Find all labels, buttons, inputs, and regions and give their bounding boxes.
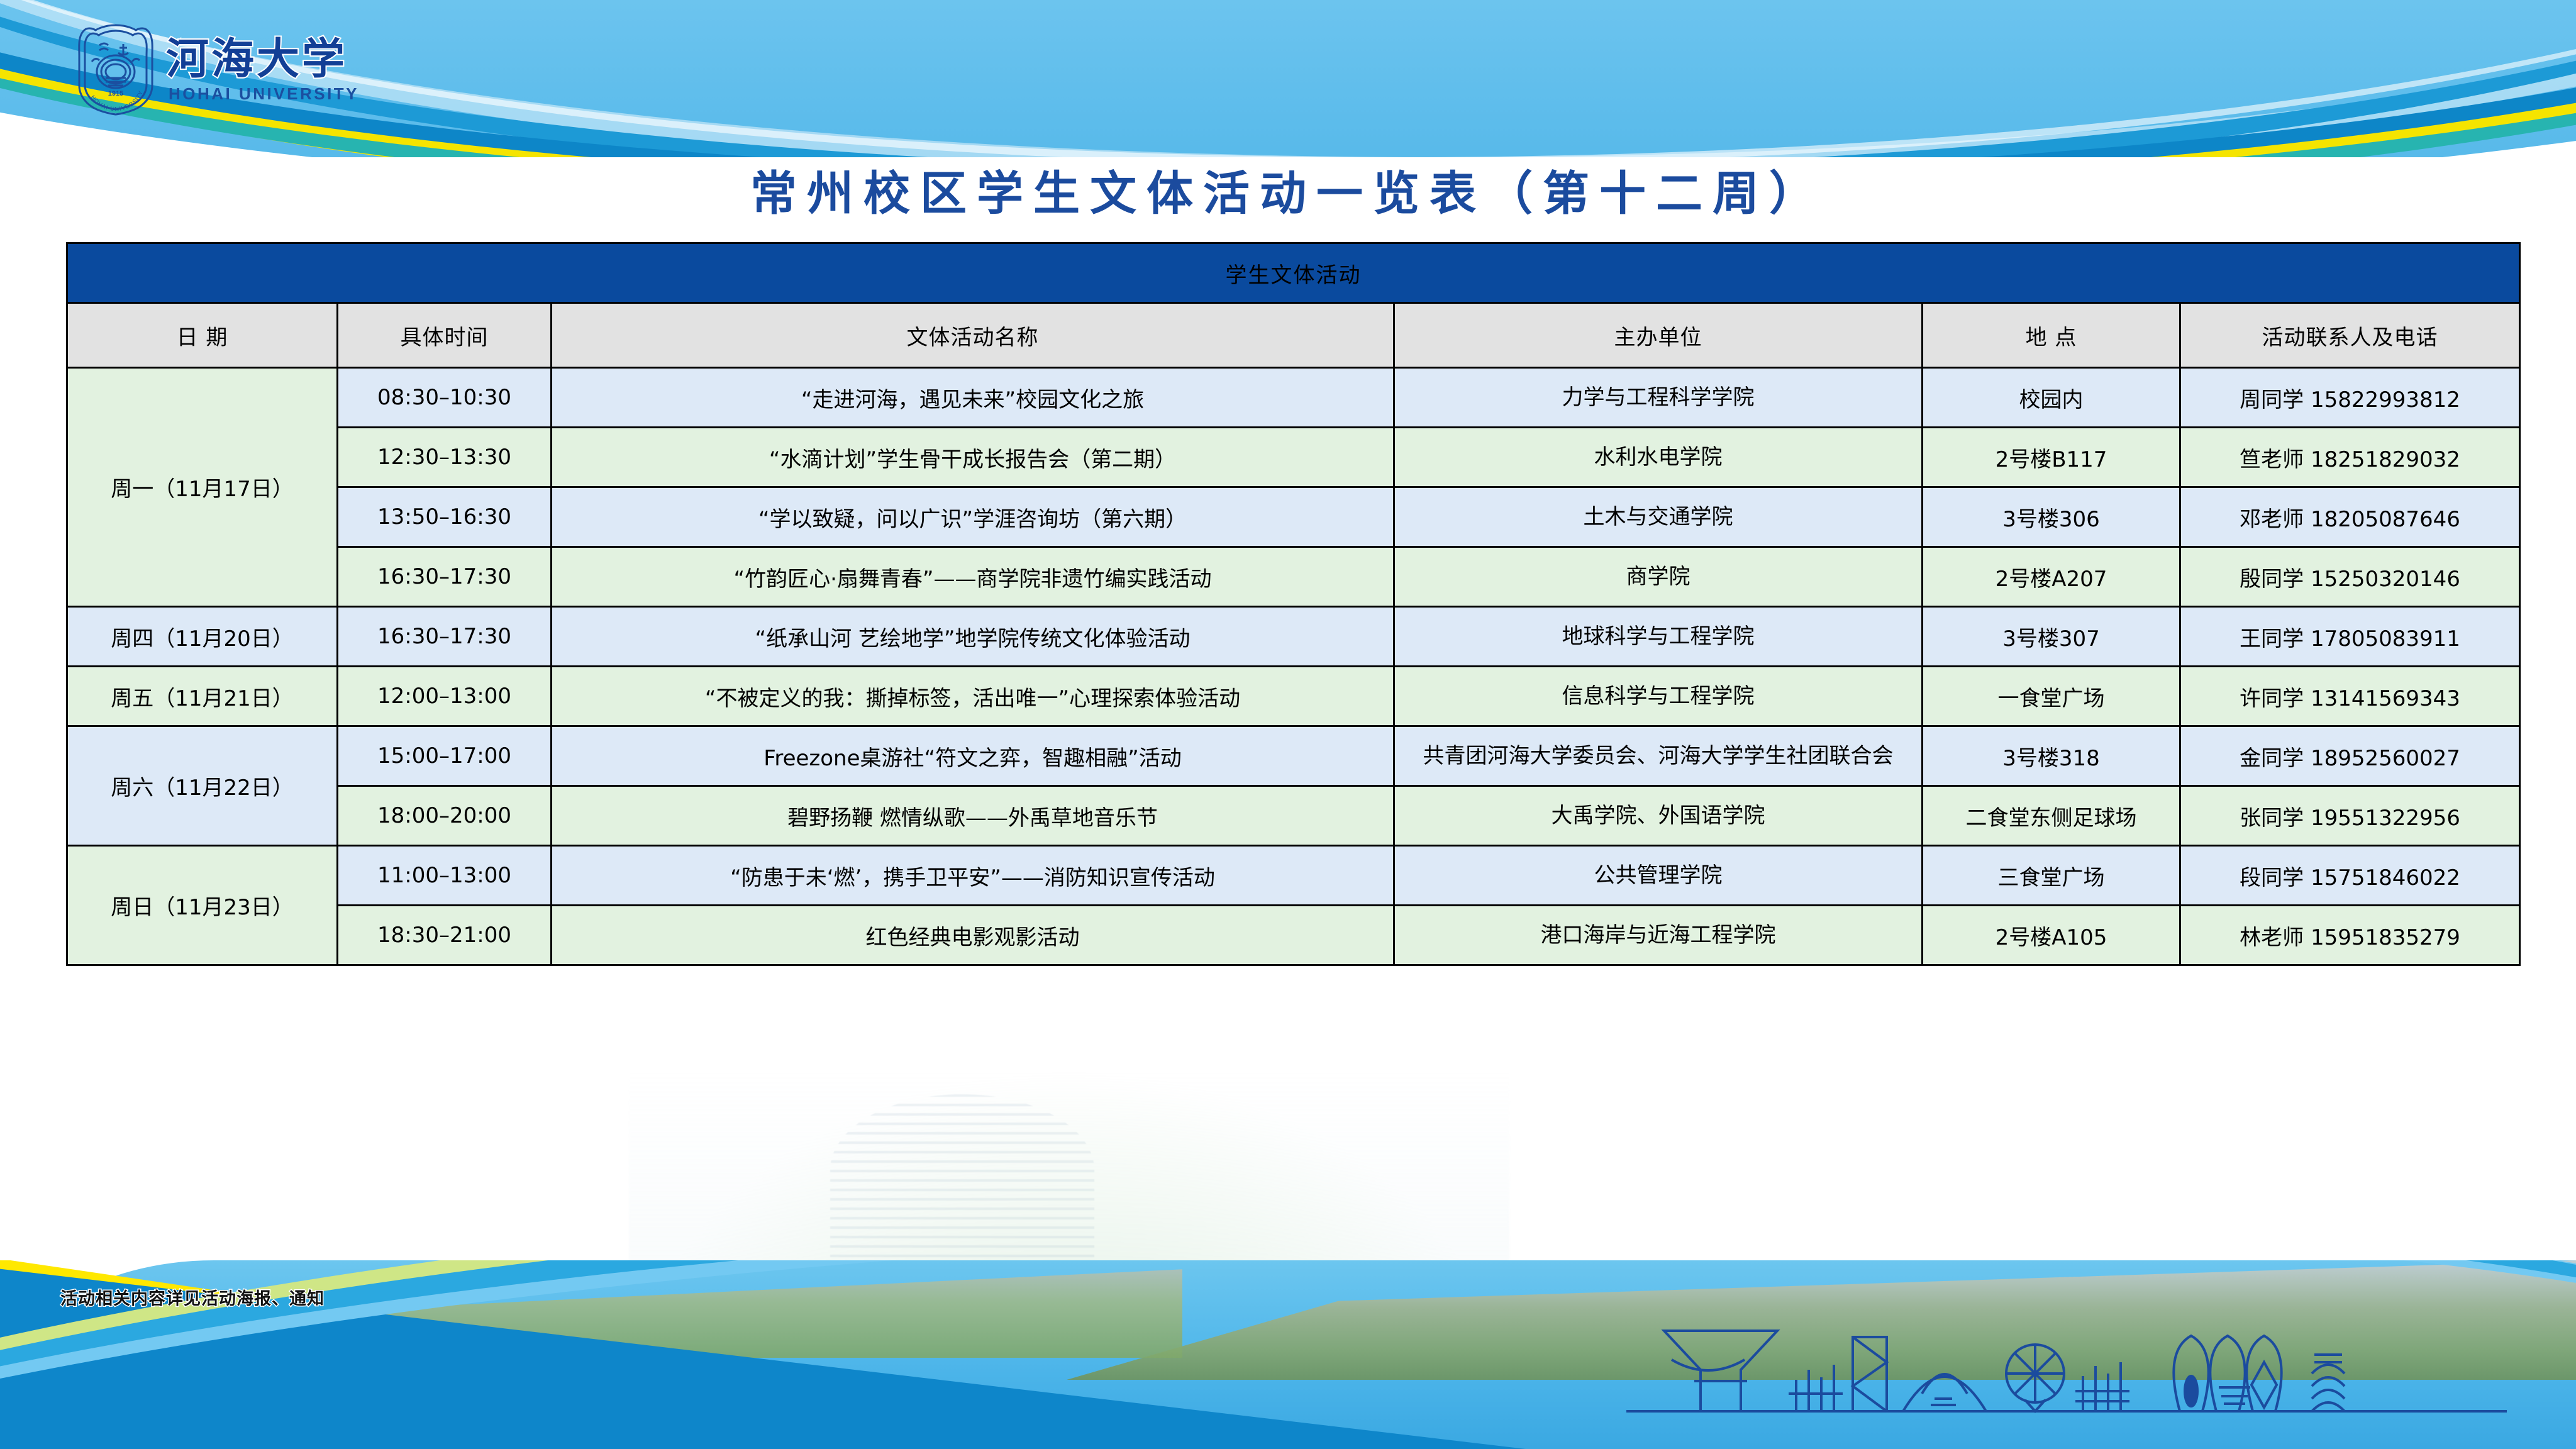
column-header-2: 文体活动名称 xyxy=(552,303,1394,368)
contact-cell: 殷同学 15250320146 xyxy=(2180,547,2520,607)
table-row: 周五（11月21日）12:00–13:00“不被定义的我：撕掉标签，活出唯一”心… xyxy=(67,667,2520,726)
activity-schedule-sheet: 学生文体活动日 期具体时间文体活动名称主办单位地 点活动联系人及电话周一（11月… xyxy=(66,242,2519,966)
column-header-5: 活动联系人及电话 xyxy=(2180,303,2520,368)
date-cell: 周五（11月21日） xyxy=(67,667,338,726)
activity-name-cell: 碧野扬鞭 燃情纵歌——外禹草地音乐节 xyxy=(552,786,1394,846)
organizer-cell: 港口海岸与近海工程学院 xyxy=(1394,906,1923,965)
time-cell: 11:00–13:00 xyxy=(338,846,552,906)
column-header-0: 日 期 xyxy=(67,303,338,368)
city-skyline-icon xyxy=(1626,1299,2507,1425)
contact-cell: 周同学 15822993812 xyxy=(2180,368,2520,428)
footer-note: 活动相关内容详见活动海报、通知 xyxy=(60,1285,325,1309)
activity-name-cell: “防患于未‘燃’，携手卫平安”——消防知识宣传活动 xyxy=(552,846,1394,906)
hohai-crest-icon: 1915 HOHAI UNIVERSITY xyxy=(74,23,157,117)
activity-name-cell: “纸承山河 艺绘地学”地学院传统文化体验活动 xyxy=(552,607,1394,667)
location-cell: 3号楼306 xyxy=(1923,487,2180,547)
contact-cell: 张同学 19551322956 xyxy=(2180,786,2520,846)
organizer-cell: 土木与交通学院 xyxy=(1394,487,1923,547)
page-title: 常州校区学生文体活动一览表（第十二周） xyxy=(0,156,2576,223)
svg-text:1915: 1915 xyxy=(108,90,123,97)
bottom-decorative-banner: 活动相关内容详见活动海报、通知 xyxy=(0,1260,2576,1449)
logo-name-en: HOHAI UNIVERSITY xyxy=(169,86,359,102)
organizer-cell: 共青团河海大学委员会、河海大学学生社团联合会 xyxy=(1394,726,1923,786)
activity-name-cell: “竹韵匠心·扇舞青春”——商学院非遗竹编实践活动 xyxy=(552,547,1394,607)
table-row: 周四（11月20日）16:30–17:30“纸承山河 艺绘地学”地学院传统文化体… xyxy=(67,607,2520,667)
activity-name-cell: Freezone桌游社“符文之弈，智趣相融”活动 xyxy=(552,726,1394,786)
location-cell: 2号楼B117 xyxy=(1923,428,2180,487)
activity-table: 学生文体活动日 期具体时间文体活动名称主办单位地 点活动联系人及电话周一（11月… xyxy=(66,242,2521,966)
logo-wordmark: 河海大学 HOHAI UNIVERSITY xyxy=(166,38,359,102)
table-banner-row: 学生文体活动 xyxy=(67,243,2520,303)
time-cell: 12:00–13:00 xyxy=(338,667,552,726)
organizer-cell: 信息科学与工程学院 xyxy=(1394,667,1923,726)
table-row: 周一（11月17日）08:30–10:30“走进河海，遇见未来”校园文化之旅力学… xyxy=(67,368,2520,428)
table-row: 12:30–13:30“水滴计划”学生骨干成长报告会（第二期）水利水电学院2号楼… xyxy=(67,428,2520,487)
time-cell: 13:50–16:30 xyxy=(338,487,552,547)
location-cell: 2号楼A207 xyxy=(1923,547,2180,607)
time-cell: 16:30–17:30 xyxy=(338,547,552,607)
table-row: 13:50–16:30“学以致疑，问以广识”学涯咨询坊（第六期）土木与交通学院3… xyxy=(67,487,2520,547)
organizer-cell: 水利水电学院 xyxy=(1394,428,1923,487)
contact-cell: 王同学 17805083911 xyxy=(2180,607,2520,667)
date-cell: 周一（11月17日） xyxy=(67,368,338,607)
organizer-cell: 大禹学院、外国语学院 xyxy=(1394,786,1923,846)
table-row: 18:30–21:00红色经典电影观影活动港口海岸与近海工程学院2号楼A105林… xyxy=(67,906,2520,965)
contact-cell: 许同学 13141569343 xyxy=(2180,667,2520,726)
column-header-1: 具体时间 xyxy=(338,303,552,368)
logo-name-cn: 河海大学 xyxy=(166,38,359,80)
contact-cell: 邓老师 18205087646 xyxy=(2180,487,2520,547)
activity-name-cell: “水滴计划”学生骨干成长报告会（第二期） xyxy=(552,428,1394,487)
column-header-3: 主办单位 xyxy=(1394,303,1923,368)
table-row: 周日（11月23日）11:00–13:00“防患于未‘燃’，携手卫平安”——消防… xyxy=(67,846,2520,906)
time-cell: 16:30–17:30 xyxy=(338,607,552,667)
organizer-cell: 地球科学与工程学院 xyxy=(1394,607,1923,667)
contact-cell: 段同学 15751846022 xyxy=(2180,846,2520,906)
date-cell: 周日（11月23日） xyxy=(67,846,338,965)
top-decorative-banner xyxy=(0,0,2576,157)
table-row: 18:00–20:00碧野扬鞭 燃情纵歌——外禹草地音乐节大禹学院、外国语学院二… xyxy=(67,786,2520,846)
contact-cell: 林老师 15951835279 xyxy=(2180,906,2520,965)
location-cell: 三食堂广场 xyxy=(1923,846,2180,906)
location-cell: 校园内 xyxy=(1923,368,2180,428)
time-cell: 18:30–21:00 xyxy=(338,906,552,965)
university-logo: 1915 HOHAI UNIVERSITY 河海大学 HOHAI UNIVERS… xyxy=(74,23,359,117)
location-cell: 3号楼307 xyxy=(1923,607,2180,667)
column-header-4: 地 点 xyxy=(1923,303,2180,368)
time-cell: 15:00–17:00 xyxy=(338,726,552,786)
location-cell: 二食堂东侧足球场 xyxy=(1923,786,2180,846)
location-cell: 3号楼318 xyxy=(1923,726,2180,786)
wave-white-base xyxy=(0,0,2576,157)
table-row: 周六（11月22日）15:00–17:00Freezone桌游社“符文之弈，智趣… xyxy=(67,726,2520,786)
date-cell: 周六（11月22日） xyxy=(67,726,338,846)
contact-cell: 笪老师 18251829032 xyxy=(2180,428,2520,487)
table-row: 16:30–17:30“竹韵匠心·扇舞青春”——商学院非遗竹编实践活动商学院2号… xyxy=(67,547,2520,607)
date-cell: 周四（11月20日） xyxy=(67,607,338,667)
location-cell: 2号楼A105 xyxy=(1923,906,2180,965)
table-header-row: 日 期具体时间文体活动名称主办单位地 点活动联系人及电话 xyxy=(67,303,2520,368)
organizer-cell: 力学与工程科学学院 xyxy=(1394,368,1923,428)
contact-cell: 金同学 18952560027 xyxy=(2180,726,2520,786)
time-cell: 12:30–13:30 xyxy=(338,428,552,487)
activity-name-cell: “不被定义的我：撕掉标签，活出唯一”心理探索体验活动 xyxy=(552,667,1394,726)
location-cell: 一食堂广场 xyxy=(1923,667,2180,726)
activity-name-cell: “走进河海，遇见未来”校园文化之旅 xyxy=(552,368,1394,428)
activity-name-cell: “学以致疑，问以广识”学涯咨询坊（第六期） xyxy=(552,487,1394,547)
time-cell: 18:00–20:00 xyxy=(338,786,552,846)
organizer-cell: 公共管理学院 xyxy=(1394,846,1923,906)
table-banner: 学生文体活动 xyxy=(67,243,2520,303)
time-cell: 08:30–10:30 xyxy=(338,368,552,428)
activity-name-cell: 红色经典电影观影活动 xyxy=(552,906,1394,965)
organizer-cell: 商学院 xyxy=(1394,547,1923,607)
